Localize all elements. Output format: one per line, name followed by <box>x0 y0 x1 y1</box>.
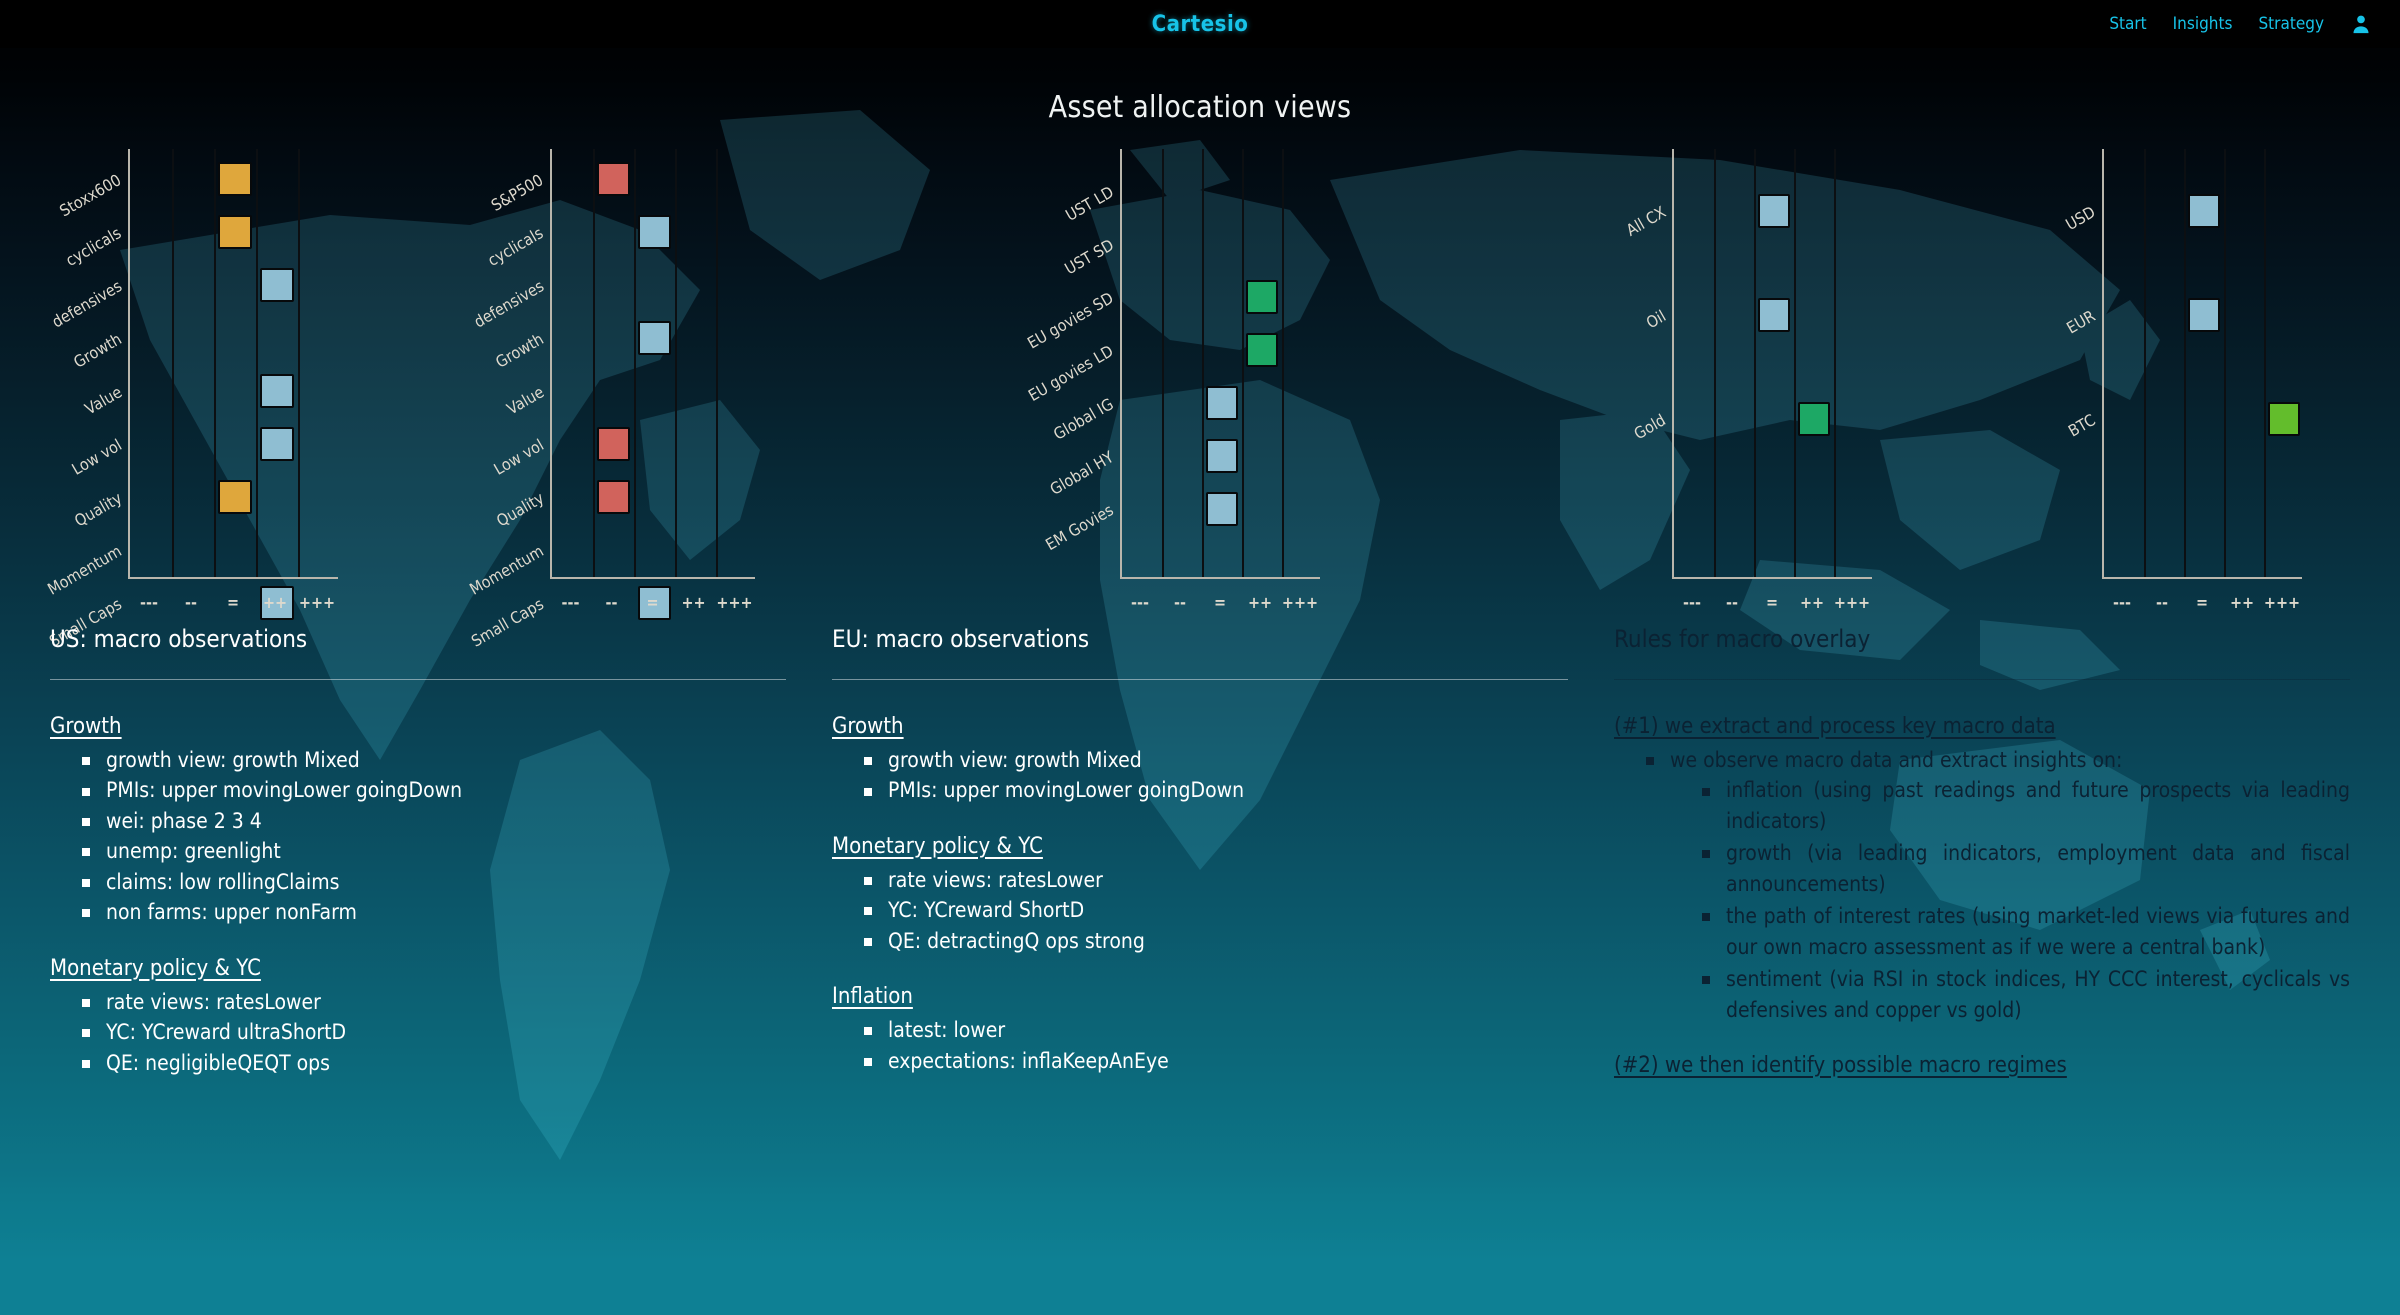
chart-mark-cell <box>2268 402 2300 436</box>
list-item: YC: YCreward ShortD <box>862 895 1568 925</box>
chart-gridline <box>2264 149 2266 577</box>
list-item: the path of interest rates (using market… <box>1700 901 2350 962</box>
list-item: PMIs: upper movingLower goingDown <box>80 775 786 805</box>
nav-link-start[interactable]: Start <box>2109 14 2146 34</box>
nav-links: Start Insights Strategy <box>2109 13 2372 35</box>
chart-category-label: Quality <box>71 488 125 530</box>
user-avatar-icon[interactable] <box>2350 13 2372 35</box>
chart-mark-cell <box>1798 402 1830 436</box>
list-item: rate views: ratesLower <box>862 865 1568 895</box>
chart-x-tick-label: +++ <box>2264 593 2300 612</box>
chart-plot-area <box>128 149 338 579</box>
column-eu-macro: EU: macro observationsGrowthgrowth view:… <box>832 625 1568 1106</box>
section-list: latest: lowerexpectations: inflaKeepAnEy… <box>832 1015 1568 1076</box>
chart-gridline <box>634 149 636 577</box>
nav-link-strategy[interactable]: Strategy <box>2258 14 2324 34</box>
chart-category-label: cyclicals <box>63 223 125 270</box>
chart-category-label: BTC <box>2065 410 2099 440</box>
chart-x-tick-label: +++ <box>299 593 335 612</box>
section-heading: Monetary policy & YC <box>832 834 1568 859</box>
chart-gridline <box>1794 149 1796 577</box>
chart-gridline <box>716 149 718 577</box>
chart-gridline <box>2224 149 2226 577</box>
chart-commodities: All CXOilGold-----=+++++ <box>1540 149 1960 619</box>
chart-category-label: S&P500 <box>488 170 546 215</box>
chart-mark-cell <box>260 374 294 408</box>
section-heading: Monetary policy & YC <box>50 956 786 981</box>
chart-x-tick-label: --- <box>2113 593 2131 612</box>
chart-mark-cell <box>260 268 294 302</box>
section-spacer <box>1614 1084 2350 1102</box>
section-list: we observe macro data and extract insigh… <box>1614 745 2350 1025</box>
bottom-fade-overlay <box>0 1175 2400 1315</box>
chart-category-label: EUR <box>2064 306 2099 337</box>
chart-mark-cell <box>1758 298 1790 332</box>
top-navbar: Cartesio Start Insights Strategy <box>0 0 2400 48</box>
chart-mark-cell <box>1758 194 1790 228</box>
chart-gridline <box>1834 149 1836 577</box>
chart-plot-area <box>1120 149 1320 579</box>
chart-category-label: Growth <box>70 329 125 371</box>
chart-gridline <box>2184 149 2186 577</box>
list-item: growth view: growth Mixed <box>80 745 786 775</box>
chart-plot-area <box>550 149 755 579</box>
list-item: latest: lower <box>862 1015 1568 1045</box>
section-list: rate views: ratesLowerYC: YCreward Short… <box>832 865 1568 956</box>
chart-category-label: Value <box>81 382 125 418</box>
brand-logo: Cartesio <box>0 12 2400 37</box>
chart-x-tick-label: ++ <box>2230 593 2254 612</box>
chart-x-tick-label: ++ <box>263 593 287 612</box>
chart-gridline <box>1202 149 1204 577</box>
list-item: claims: low rollingClaims <box>80 867 786 897</box>
list-item: we observe macro data and extract insigh… <box>1644 745 2350 1025</box>
section-sublist: inflation (using past readings and futur… <box>1670 775 2350 1025</box>
chart-category-label: Growth <box>492 329 547 371</box>
chart-gridline <box>1754 149 1756 577</box>
list-item: QE: detractingQ ops strong <box>862 926 1568 956</box>
section-heading: Growth <box>50 714 786 739</box>
chart-category-label: cyclicals <box>485 223 547 270</box>
nav-link-insights[interactable]: Insights <box>2173 14 2233 34</box>
chart-category-label: Gold <box>1631 410 1669 443</box>
chart-category-label: Momentum <box>466 541 547 598</box>
chart-us-equities: S&P500cyclicalsdefensivesGrowthValueLow … <box>420 149 920 619</box>
charts-strip: Stoxx600cyclicalsdefensivesGrowthValueLo… <box>0 125 2400 625</box>
chart-gridline <box>172 149 174 577</box>
chart-gridline <box>1714 149 1716 577</box>
chart-x-tick-label: ++ <box>681 593 705 612</box>
chart-mark-cell <box>2188 298 2220 332</box>
chart-plot-area <box>2102 149 2302 579</box>
chart-x-tick-label: +++ <box>716 593 752 612</box>
section-heading: Growth <box>832 714 1568 739</box>
chart-x-tick-label: +++ <box>1282 593 1318 612</box>
chart-x-tick-label: --- <box>140 593 158 612</box>
chart-plot-area <box>1672 149 1872 579</box>
chart-category-label: defensives <box>48 276 125 331</box>
list-item: rate views: ratesLower <box>80 987 786 1017</box>
section-heading: Inflation <box>832 984 1568 1009</box>
column-rules-overlay: Rules for macro overlay(#1) we extract a… <box>1614 625 2350 1106</box>
chart-x-tick-label: -- <box>185 593 197 612</box>
chart-category-label: Stoxx600 <box>57 170 125 220</box>
list-item: unemp: greenlight <box>80 836 786 866</box>
list-item: non farms: upper nonFarm <box>80 897 786 927</box>
section-list: rate views: ratesLowerYC: YCreward ultra… <box>50 987 786 1078</box>
chart-x-tick-label: -- <box>2156 593 2168 612</box>
chart-mark-cell <box>2188 194 2220 228</box>
chart-category-label: All CX <box>1623 202 1669 240</box>
observations-columns: US: macro observationsGrowthgrowth view:… <box>0 625 2400 1106</box>
chart-mark-cell <box>638 321 671 355</box>
chart-category-label: Value <box>503 382 547 418</box>
chart-mark-cell <box>260 427 294 461</box>
section-list: growth view: growth MixedPMIs: upper mov… <box>832 745 1568 806</box>
column-divider <box>832 679 1568 680</box>
chart-x-tick-label: = <box>1214 593 1226 612</box>
page-title: Asset allocation views <box>0 48 2400 125</box>
chart-x-tick-label: -- <box>606 593 618 612</box>
chart-x-tick-label: = <box>1766 593 1778 612</box>
column-title: EU: macro observations <box>832 625 1568 679</box>
section-list: growth view: growth MixedPMIs: upper mov… <box>50 745 786 928</box>
chart-mark-cell <box>597 480 630 514</box>
list-item: YC: YCreward ultraShortD <box>80 1017 786 1047</box>
list-item: growth (via leading indicators, employme… <box>1700 838 2350 899</box>
chart-mark-cell <box>1206 492 1238 526</box>
column-title: Rules for macro overlay <box>1614 625 2350 679</box>
chart-mark-cell <box>218 162 252 196</box>
column-us-macro: US: macro observationsGrowthgrowth view:… <box>50 625 786 1106</box>
section-heading: (#2) we then identify possible macro reg… <box>1614 1053 2350 1078</box>
chart-x-tick-label: = <box>2196 593 2208 612</box>
chart-gridline <box>1242 149 1244 577</box>
chart-category-label: EM Govies <box>1042 500 1116 554</box>
chart-mark-cell <box>638 215 671 249</box>
column-title: US: macro observations <box>50 625 786 679</box>
chart-x-tick-label: +++ <box>1834 593 1870 612</box>
chart-x-tick-label: --- <box>1131 593 1149 612</box>
chart-x-tick-label: -- <box>1726 593 1738 612</box>
chart-fx-crypto: USDEURBTC-----=+++++ <box>1960 149 2380 619</box>
list-item: expectations: inflaKeepAnEye <box>862 1046 1568 1076</box>
chart-gridline <box>2144 149 2146 577</box>
chart-x-tick-label: -- <box>1174 593 1186 612</box>
chart-mark-cell <box>1246 280 1278 314</box>
chart-gridline <box>298 149 300 577</box>
chart-category-label: Momentum <box>44 541 125 598</box>
chart-mark-cell <box>597 427 630 461</box>
chart-x-tick-label: ++ <box>1248 593 1272 612</box>
list-item: growth view: growth Mixed <box>862 745 1568 775</box>
chart-category-label: Global IG <box>1050 394 1117 443</box>
chart-gridline <box>214 149 216 577</box>
section-heading: (#1) we extract and process key macro da… <box>1614 714 2350 739</box>
list-item: QE: negligibleQEQT ops <box>80 1048 786 1078</box>
chart-category-label: UST SD <box>1061 235 1117 278</box>
chart-category-label: defensives <box>470 276 547 331</box>
chart-category-label: Quality <box>493 488 547 530</box>
chart-mark-cell <box>1246 333 1278 367</box>
list-item: PMIs: upper movingLower goingDown <box>862 775 1568 805</box>
chart-gridline <box>256 149 258 577</box>
column-divider <box>1614 679 2350 680</box>
chart-category-label: Low vol <box>68 435 124 479</box>
chart-mark-cell <box>1206 386 1238 420</box>
chart-x-tick-label: --- <box>562 593 580 612</box>
chart-fixed-income: UST LDUST SDEU govies SDEU govies LDGlob… <box>920 149 1540 619</box>
chart-europe-equities: Stoxx600cyclicalsdefensivesGrowthValueLo… <box>0 149 420 619</box>
chart-mark-cell <box>597 162 630 196</box>
list-item: wei: phase 2 3 4 <box>80 806 786 836</box>
column-divider <box>50 679 786 680</box>
chart-category-label: UST LD <box>1062 182 1117 225</box>
chart-x-tick-label: = <box>646 593 658 612</box>
chart-x-tick-label: ++ <box>1800 593 1824 612</box>
chart-mark-cell <box>1206 439 1238 473</box>
chart-category-label: Global HY <box>1047 447 1117 499</box>
chart-category-label: USD <box>2063 202 2099 234</box>
chart-category-label: Low vol <box>490 435 546 479</box>
chart-category-label: Oil <box>1643 306 1669 332</box>
app-page: Cartesio Start Insights Strategy Asset a… <box>0 0 2400 1315</box>
chart-mark-cell <box>218 215 252 249</box>
chart-gridline <box>675 149 677 577</box>
chart-gridline <box>1282 149 1284 577</box>
chart-gridline <box>593 149 595 577</box>
list-item: inflation (using past readings and futur… <box>1700 775 2350 836</box>
chart-gridline <box>1162 149 1164 577</box>
list-item: sentiment (via RSI in stock indices, HY … <box>1700 964 2350 1025</box>
chart-x-tick-label: --- <box>1683 593 1701 612</box>
chart-mark-cell <box>218 480 252 514</box>
chart-x-tick-label: = <box>227 593 239 612</box>
